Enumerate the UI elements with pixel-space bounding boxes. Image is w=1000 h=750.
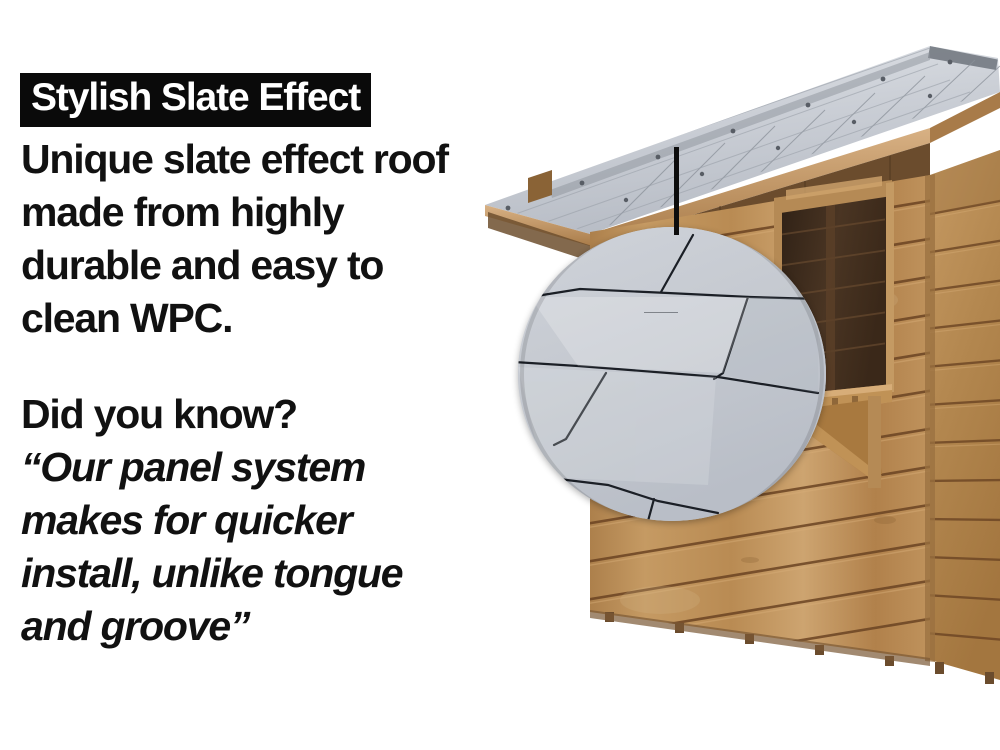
shed-side-wall: [925, 118, 1000, 700]
did-you-know-heading: Did you know?: [21, 388, 526, 441]
quote-line: makes for quicker: [21, 494, 526, 547]
body-line: durable and easy to: [21, 239, 526, 292]
headline-text: Stylish Slate Effect: [31, 77, 360, 119]
magnifier-pointer-line: [674, 147, 679, 235]
body-line: made from highly: [21, 186, 526, 239]
slate-detail-magnifier: [518, 227, 826, 521]
quote-line: and groove”: [21, 600, 526, 653]
body-line: Unique slate effect roof: [21, 133, 526, 186]
quote-line: “Our panel system: [21, 441, 526, 494]
did-you-know-block: Did you know? “Our panel system makes fo…: [21, 388, 526, 653]
promo-banner: Stylish Slate Effect Unique slate effect…: [0, 0, 1000, 750]
magnifier-pointer-hairline: [644, 300, 678, 301]
body-line: clean WPC.: [21, 292, 526, 345]
body-paragraph: Unique slate effect roof made from highl…: [21, 133, 526, 345]
marketing-copy-column: Stylish Slate Effect Unique slate effect…: [0, 0, 520, 750]
quote-line: install, unlike tongue: [21, 547, 526, 600]
headline-banner: Stylish Slate Effect: [20, 73, 371, 127]
